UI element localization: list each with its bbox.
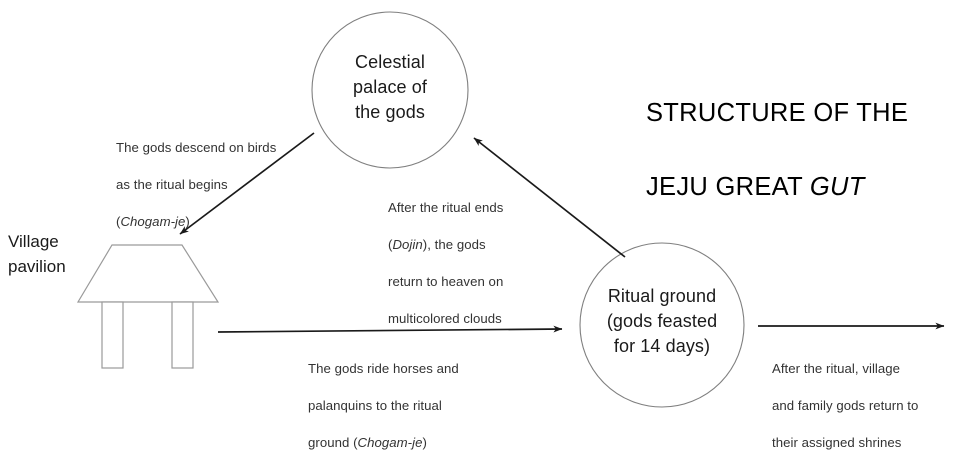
- arrow-pavilion-to-ritualground: [218, 329, 562, 332]
- annotation-assigned-shrines-line3: their assigned shrines: [772, 435, 901, 450]
- pavilion-right-pillar-shape: [172, 302, 193, 368]
- node-label-ritual-ground: Ritual ground (gods feasted for 14 days): [589, 284, 735, 359]
- annotation-return-to-heaven-line3: return to heaven on: [388, 274, 503, 289]
- annotation-ride-horses-line3-suffix: ): [422, 435, 426, 450]
- annotation-assigned-shrines-line1: After the ritual, village: [772, 361, 900, 376]
- diagram-canvas: STRUCTURE OF THE JEJU GREAT GUT Celestia…: [0, 0, 960, 464]
- annotation-return-to-heaven-line4: multicolored clouds: [388, 311, 502, 326]
- annotation-return-to-heaven: After the ritual ends (Dojin), the gods …: [388, 180, 548, 328]
- annotation-ride-horses-line1: The gods ride horses and: [308, 361, 459, 376]
- node-label-celestial-palace: Celestial palace of the gods: [330, 50, 450, 125]
- annotation-return-to-heaven-line2-rest: ), the gods: [423, 237, 486, 252]
- annotation-return-to-heaven-emphasis: Dojin: [392, 237, 422, 252]
- annotation-gods-descend-line2: as the ritual begins: [116, 177, 228, 192]
- annotation-gods-descend-emphasis: Chogam-je: [120, 214, 185, 229]
- annotation-gods-descend-paren-close: ): [185, 214, 189, 229]
- diagram-title-line2-prefix: JEJU GREAT: [646, 173, 810, 201]
- diagram-title-emphasis: GUT: [810, 173, 865, 201]
- annotation-gods-descend-line1: The gods descend on birds: [116, 140, 276, 155]
- pavilion-left-pillar-shape: [102, 302, 123, 368]
- annotation-return-to-heaven-line1: After the ritual ends: [388, 200, 503, 215]
- annotation-ride-horses-line3-prefix: ground (: [308, 435, 358, 450]
- annotation-gods-descend: The gods descend on birds as the ritual …: [116, 120, 306, 231]
- pavilion-roof-shape: [78, 245, 218, 302]
- annotation-ride-horses-line2: palanquins to the ritual: [308, 398, 442, 413]
- annotation-ride-horses-emphasis: Chogam-je: [358, 435, 423, 450]
- annotation-assigned-shrines-line2: and family gods return to: [772, 398, 918, 413]
- annotation-assigned-shrines: After the ritual, village and family god…: [772, 341, 950, 464]
- diagram-title: STRUCTURE OF THE JEJU GREAT GUT: [646, 58, 946, 206]
- annotation-ride-horses: The gods ride horses and palanquins to t…: [308, 341, 498, 452]
- node-label-village-pavilion: Village pavilion: [8, 229, 94, 279]
- diagram-title-line1: STRUCTURE OF THE: [646, 99, 908, 127]
